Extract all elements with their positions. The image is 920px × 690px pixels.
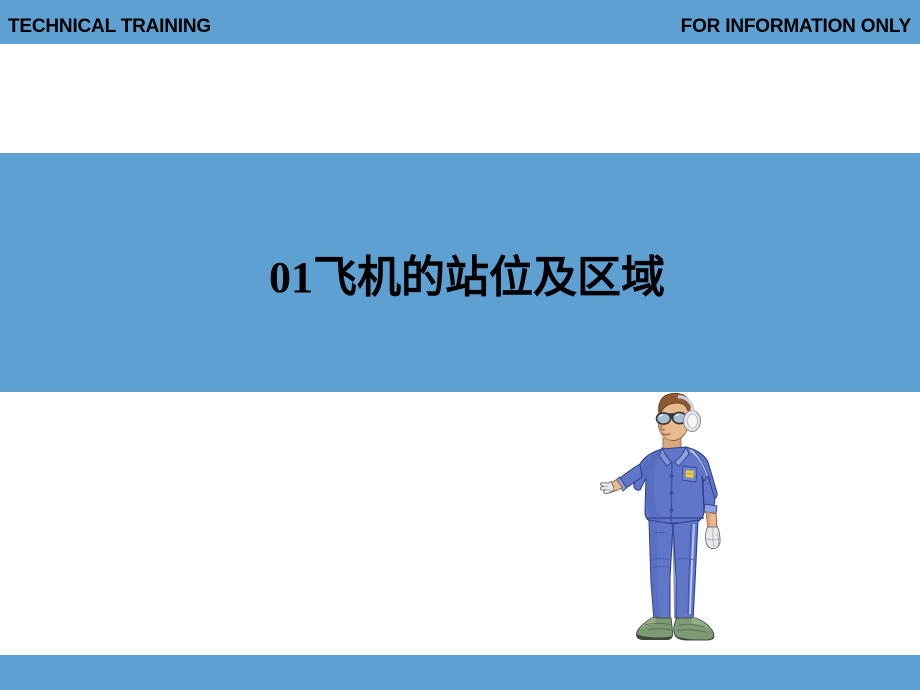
- slide-title: 01飞机的站位及区域: [0, 153, 920, 392]
- technician-illustration: [600, 392, 750, 654]
- footer-bar: [0, 655, 920, 690]
- title-band: 01飞机的站位及区域: [0, 153, 920, 392]
- technician-pointing-icon: [600, 392, 750, 654]
- slide-canvas: TECHNICAL TRAINING FOR INFORMATION ONLY …: [0, 0, 920, 690]
- header-right-label: FOR INFORMATION ONLY: [681, 16, 911, 38]
- header-left-label: TECHNICAL TRAINING: [8, 16, 211, 38]
- header-bar: TECHNICAL TRAINING FOR INFORMATION ONLY: [0, 0, 920, 44]
